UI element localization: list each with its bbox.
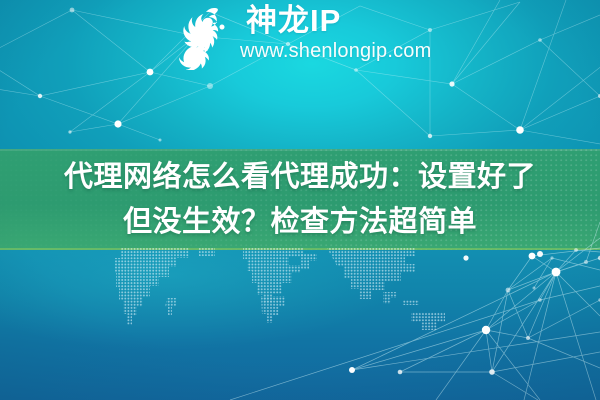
- promo-banner: 神龙IP www.shenlongip.com: [0, 0, 600, 400]
- background-vignette: [0, 0, 600, 400]
